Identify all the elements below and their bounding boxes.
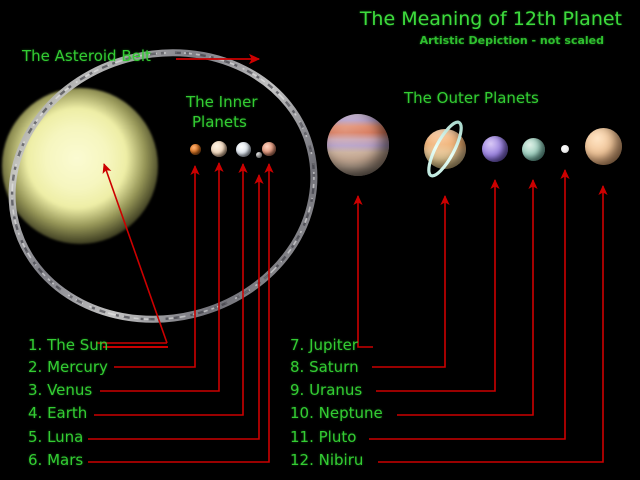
legend-item-venus: 3. Venus bbox=[28, 381, 92, 399]
inner-planets-label-line2: Planets bbox=[192, 113, 247, 131]
labels-layer: The Meaning of 12th Planet Artistic Depi… bbox=[0, 0, 640, 480]
legend-item-the-sun: 1. The Sun bbox=[28, 336, 108, 354]
inner-planets-label-line1: The Inner bbox=[186, 93, 258, 111]
legend-item-saturn: 8. Saturn bbox=[290, 358, 359, 376]
legend-item-mercury: 2. Mercury bbox=[28, 358, 108, 376]
legend-item-nibiru: 12. Nibiru bbox=[290, 451, 363, 469]
page-subtitle: Artistic Depiction - not scaled bbox=[420, 34, 604, 47]
asteroid-belt-label: The Asteroid Belt bbox=[22, 47, 151, 65]
solar-system-diagram: The Meaning of 12th Planet Artistic Depi… bbox=[0, 0, 640, 480]
page-title: The Meaning of 12th Planet bbox=[360, 8, 622, 30]
legend-item-jupiter: 7. Jupiter bbox=[290, 336, 358, 354]
outer-planets-label: The Outer Planets bbox=[404, 89, 539, 107]
legend-item-luna: 5. Luna bbox=[28, 428, 83, 446]
legend-item-pluto: 11. Pluto bbox=[290, 428, 356, 446]
legend-item-earth: 4. Earth bbox=[28, 404, 87, 422]
legend-item-uranus: 9. Uranus bbox=[290, 381, 362, 399]
legend-item-neptune: 10. Neptune bbox=[290, 404, 383, 422]
legend-item-mars: 6. Mars bbox=[28, 451, 83, 469]
